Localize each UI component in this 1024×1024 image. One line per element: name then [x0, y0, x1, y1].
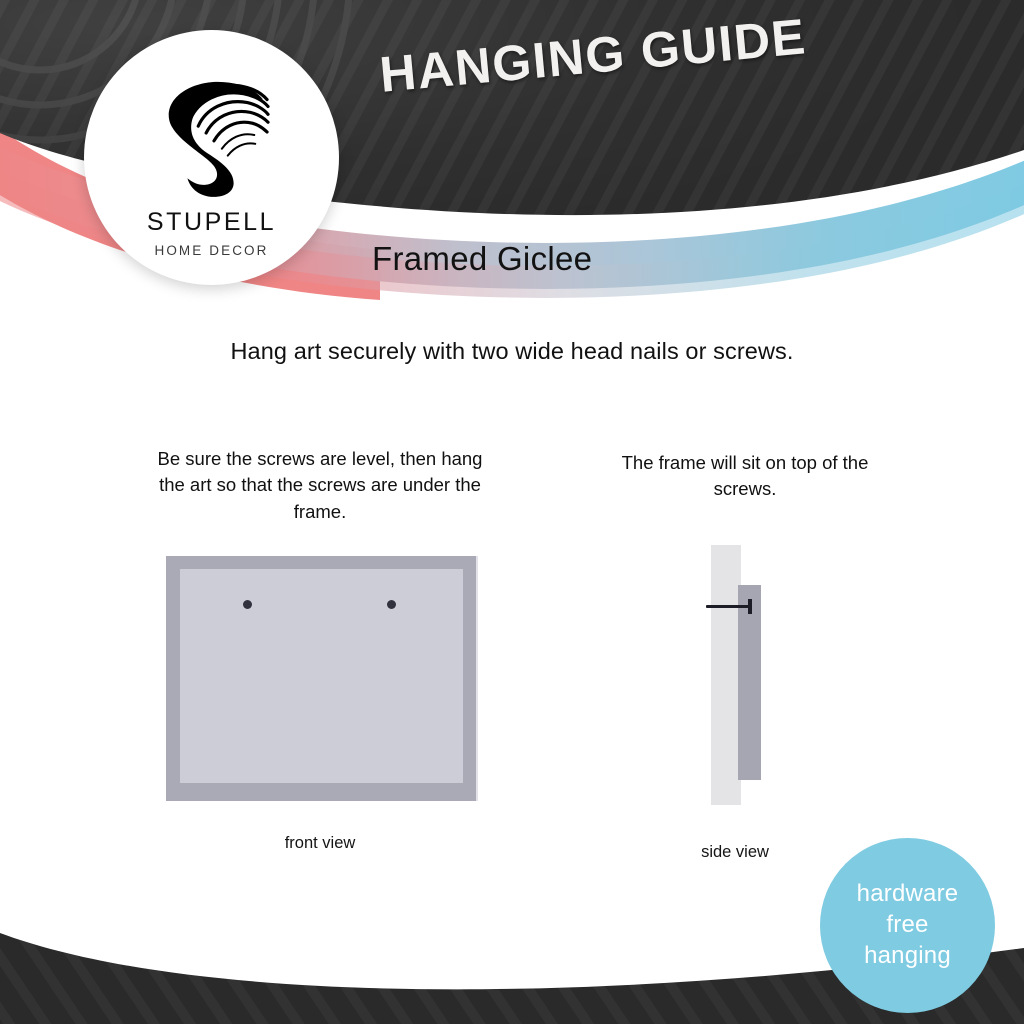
side-view-nail-head-icon	[748, 599, 752, 614]
badge-line-3: hanging	[864, 941, 951, 972]
screw-dot-right	[387, 600, 396, 609]
side-view-nail-shaft-icon	[706, 605, 751, 608]
front-view-mat	[180, 569, 463, 783]
side-view-label: side view	[625, 843, 845, 862]
page-title: HANGING GUIDE	[377, 7, 808, 104]
front-view-label: front view	[190, 834, 450, 853]
badge-line-1: hardware	[857, 879, 959, 910]
product-type-label: Framed Giclee	[372, 240, 592, 278]
side-view-caption: The frame will sit on top of the screws.	[590, 450, 900, 503]
stupell-swoosh-logo-icon	[153, 70, 271, 198]
brand-tagline: HOME DECOR	[154, 244, 268, 258]
side-view-wall	[711, 545, 741, 805]
front-view-caption: Be sure the screws are level, then hang …	[150, 446, 490, 525]
lead-instruction-text: Hang art securely with two wide head nai…	[0, 338, 1024, 365]
side-view-diagram	[700, 545, 790, 805]
side-view-frame	[738, 585, 761, 780]
screw-dot-left	[243, 600, 252, 609]
brand-name: STUPELL	[147, 210, 276, 235]
front-view-diagram	[166, 556, 478, 801]
hardware-free-hanging-badge: hardware free hanging	[820, 838, 995, 1013]
hanging-guide-page: STUPELL HOME DECOR HANGING GUIDE Framed …	[0, 0, 1024, 1024]
brand-logo-badge: STUPELL HOME DECOR	[84, 30, 339, 285]
badge-line-2: free	[886, 910, 928, 941]
